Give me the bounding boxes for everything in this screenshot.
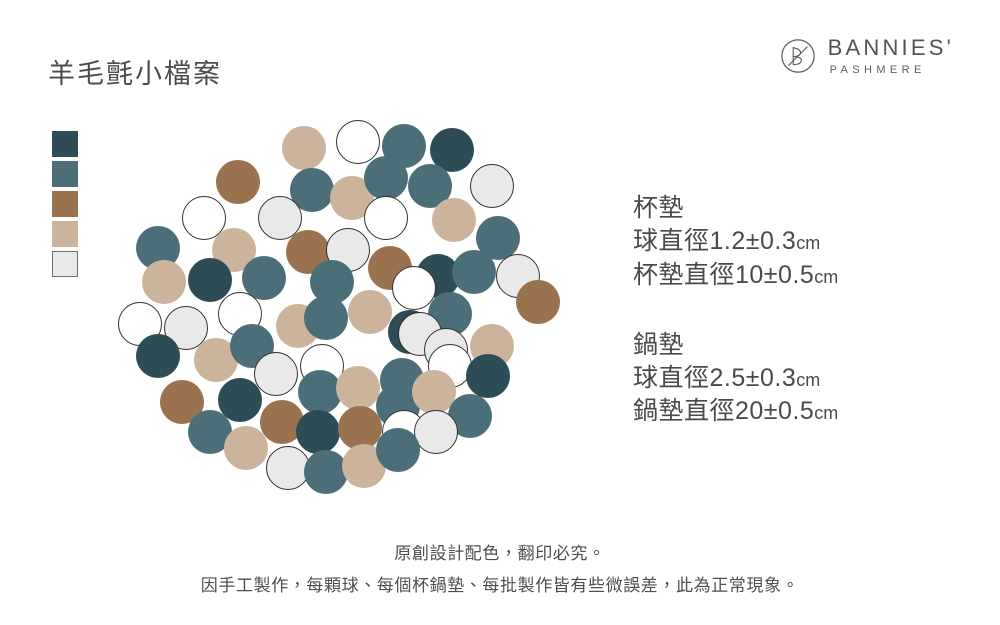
felt-ball-teal [304, 296, 348, 340]
felt-ball-white [336, 120, 380, 164]
felt-ball-light-gray [414, 410, 458, 454]
felt-ball-teal [304, 450, 348, 494]
footer-notes: 原創設計配色，翻印必究。因手工製作，每顆球、每個杯鍋墊、每批製作皆有些微誤差，此… [0, 538, 1000, 603]
felt-ball-dark-teal [466, 354, 510, 398]
spec-unit: cm [814, 403, 838, 423]
brand-subtitle: PASHMERE [830, 64, 926, 76]
felt-ball-brown [216, 160, 260, 204]
felt-ball-dark-teal [296, 410, 340, 454]
spec-group-trivet: 鍋墊球直徑2.5±0.3cm鍋墊直徑20±0.5cm [633, 329, 963, 429]
bannies-monogram-circle-icon [779, 37, 817, 75]
felt-ball-teal [452, 250, 496, 294]
page-title: 羊毛氈小檔案 [48, 58, 222, 90]
spec-line-trivet-1: 球直徑2.5±0.3cm [633, 362, 963, 395]
palette-swatch-brown [52, 191, 78, 217]
felt-ball-light-gray [254, 352, 298, 396]
felt-ball-tan [142, 260, 186, 304]
spec-title-coaster: 杯墊 [633, 192, 963, 225]
spec-value: 球直徑1.2±0.3 [633, 227, 796, 255]
palette-swatch-tan [52, 221, 78, 247]
colour-palette [52, 131, 78, 277]
felt-ball-tan [282, 126, 326, 170]
felt-ball-dark-teal [136, 334, 180, 378]
spec-line-trivet-2: 鍋墊直徑20±0.5cm [633, 395, 963, 428]
spec-value: 杯墊直徑10±0.5 [633, 261, 814, 289]
spec-line-coaster-2: 杯墊直徑10±0.5cm [633, 259, 963, 292]
felt-ball-tan [348, 290, 392, 334]
spec-unit: cm [796, 370, 820, 390]
brand-name: BANNIES' [828, 36, 954, 59]
palette-swatch-dark-teal [52, 131, 78, 157]
product-specifications: 杯墊球直徑1.2±0.3cm杯墊直徑10±0.5cm鍋墊球直徑2.5±0.3cm… [633, 192, 963, 429]
felt-ball-light-gray [470, 164, 514, 208]
footer-line-1: 原創設計配色，翻印必究。 [0, 538, 1000, 570]
felt-ball-teal [364, 156, 408, 200]
spec-unit: cm [796, 233, 820, 253]
felt-ball-mat-illustration [118, 138, 518, 508]
spec-title-trivet: 鍋墊 [633, 329, 963, 362]
spec-value: 鍋墊直徑20±0.5 [633, 397, 814, 425]
brand-logo: BANNIES' PASHMERE [779, 36, 954, 76]
palette-swatch-off-white [52, 251, 78, 277]
felt-ball-dark-teal [188, 258, 232, 302]
felt-ball-teal [376, 428, 420, 472]
spec-value: 球直徑2.5±0.3 [633, 364, 796, 392]
felt-ball-tan [224, 426, 268, 470]
footer-line-2: 因手工製作，每顆球、每個杯鍋墊、每批製作皆有些微誤差，此為正常現象。 [0, 570, 1000, 602]
felt-ball-white [364, 196, 408, 240]
spec-group-coaster: 杯墊球直徑1.2±0.3cm杯墊直徑10±0.5cm [633, 192, 963, 292]
felt-ball-tan [432, 198, 476, 242]
felt-ball-tan [336, 366, 380, 410]
palette-swatch-medium-teal [52, 161, 78, 187]
spec-unit: cm [814, 267, 838, 287]
spec-line-coaster-1: 球直徑1.2±0.3cm [633, 225, 963, 258]
felt-ball-brown [516, 280, 560, 324]
